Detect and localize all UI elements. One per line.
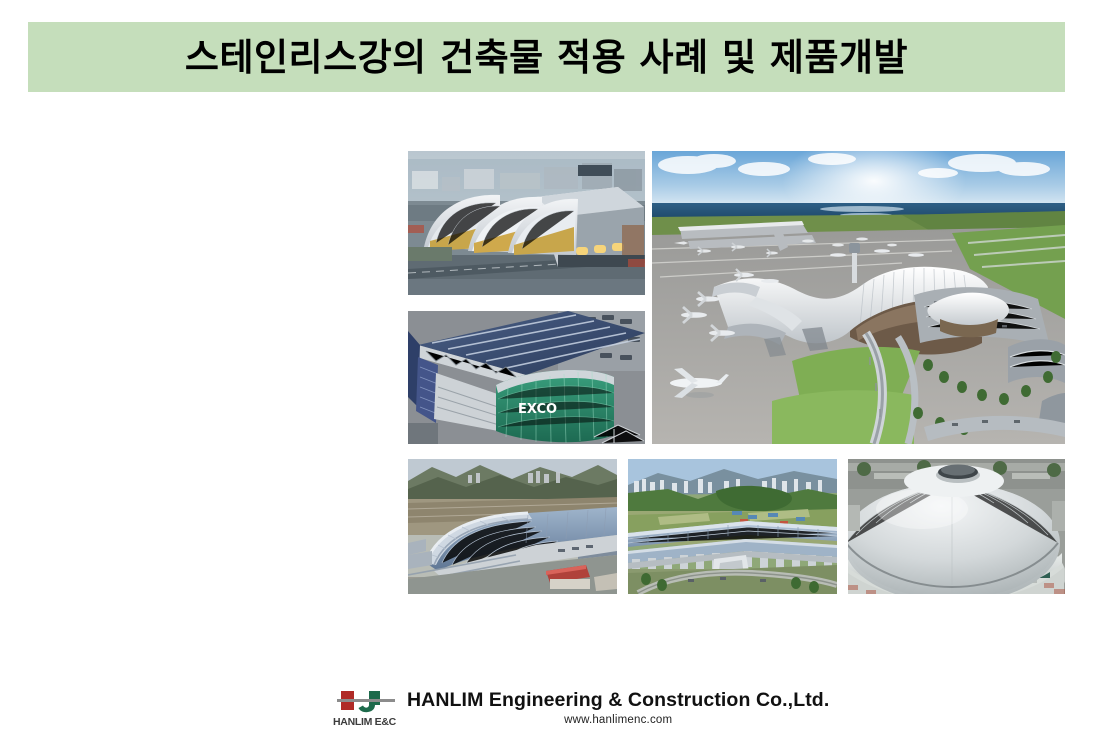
company-url[interactable]: www.hanlimenc.com bbox=[564, 714, 672, 726]
photo-railway-depot bbox=[408, 459, 617, 594]
photo-airport-terminal-rendering bbox=[652, 151, 1065, 444]
hanlim-logo-caption: HANLIM E&C bbox=[333, 716, 401, 728]
title-banner: 스테인리스강의 건축물 적용 사례 및 제품개발 bbox=[28, 22, 1065, 92]
footer-content: HANLIM E&C HANLIM Engineering & Construc… bbox=[333, 684, 829, 736]
photo-bexco-convention-center bbox=[408, 151, 645, 295]
photo-domed-arena bbox=[848, 459, 1065, 594]
bexco-illustration bbox=[408, 151, 645, 295]
exco-sign-text: EXCO bbox=[518, 402, 557, 417]
slide-canvas: 스테인리스강의 건축물 적용 사례 및 제품개발 bbox=[0, 0, 1104, 745]
exco-illustration: EXCO bbox=[408, 311, 645, 444]
photo-elevated-railway-station bbox=[628, 459, 837, 594]
hanlim-logo-mark bbox=[337, 688, 399, 716]
page-title: 스테인리스강의 건축물 적용 사례 및 제품개발 bbox=[185, 39, 908, 76]
hanlim-logo: HANLIM E&C bbox=[333, 684, 401, 736]
photo-exco-exhibition-center: EXCO bbox=[408, 311, 645, 444]
station-illustration bbox=[628, 459, 837, 594]
slide-footer: HANLIM E&C HANLIM Engineering & Construc… bbox=[0, 684, 1104, 740]
dome-illustration bbox=[848, 459, 1065, 594]
company-name: HANLIM Engineering & Construction Co.,Lt… bbox=[407, 690, 829, 711]
footer-text-group: HANLIM Engineering & Construction Co.,Lt… bbox=[407, 684, 829, 726]
airport-illustration bbox=[652, 151, 1065, 444]
depot-illustration bbox=[408, 459, 617, 594]
